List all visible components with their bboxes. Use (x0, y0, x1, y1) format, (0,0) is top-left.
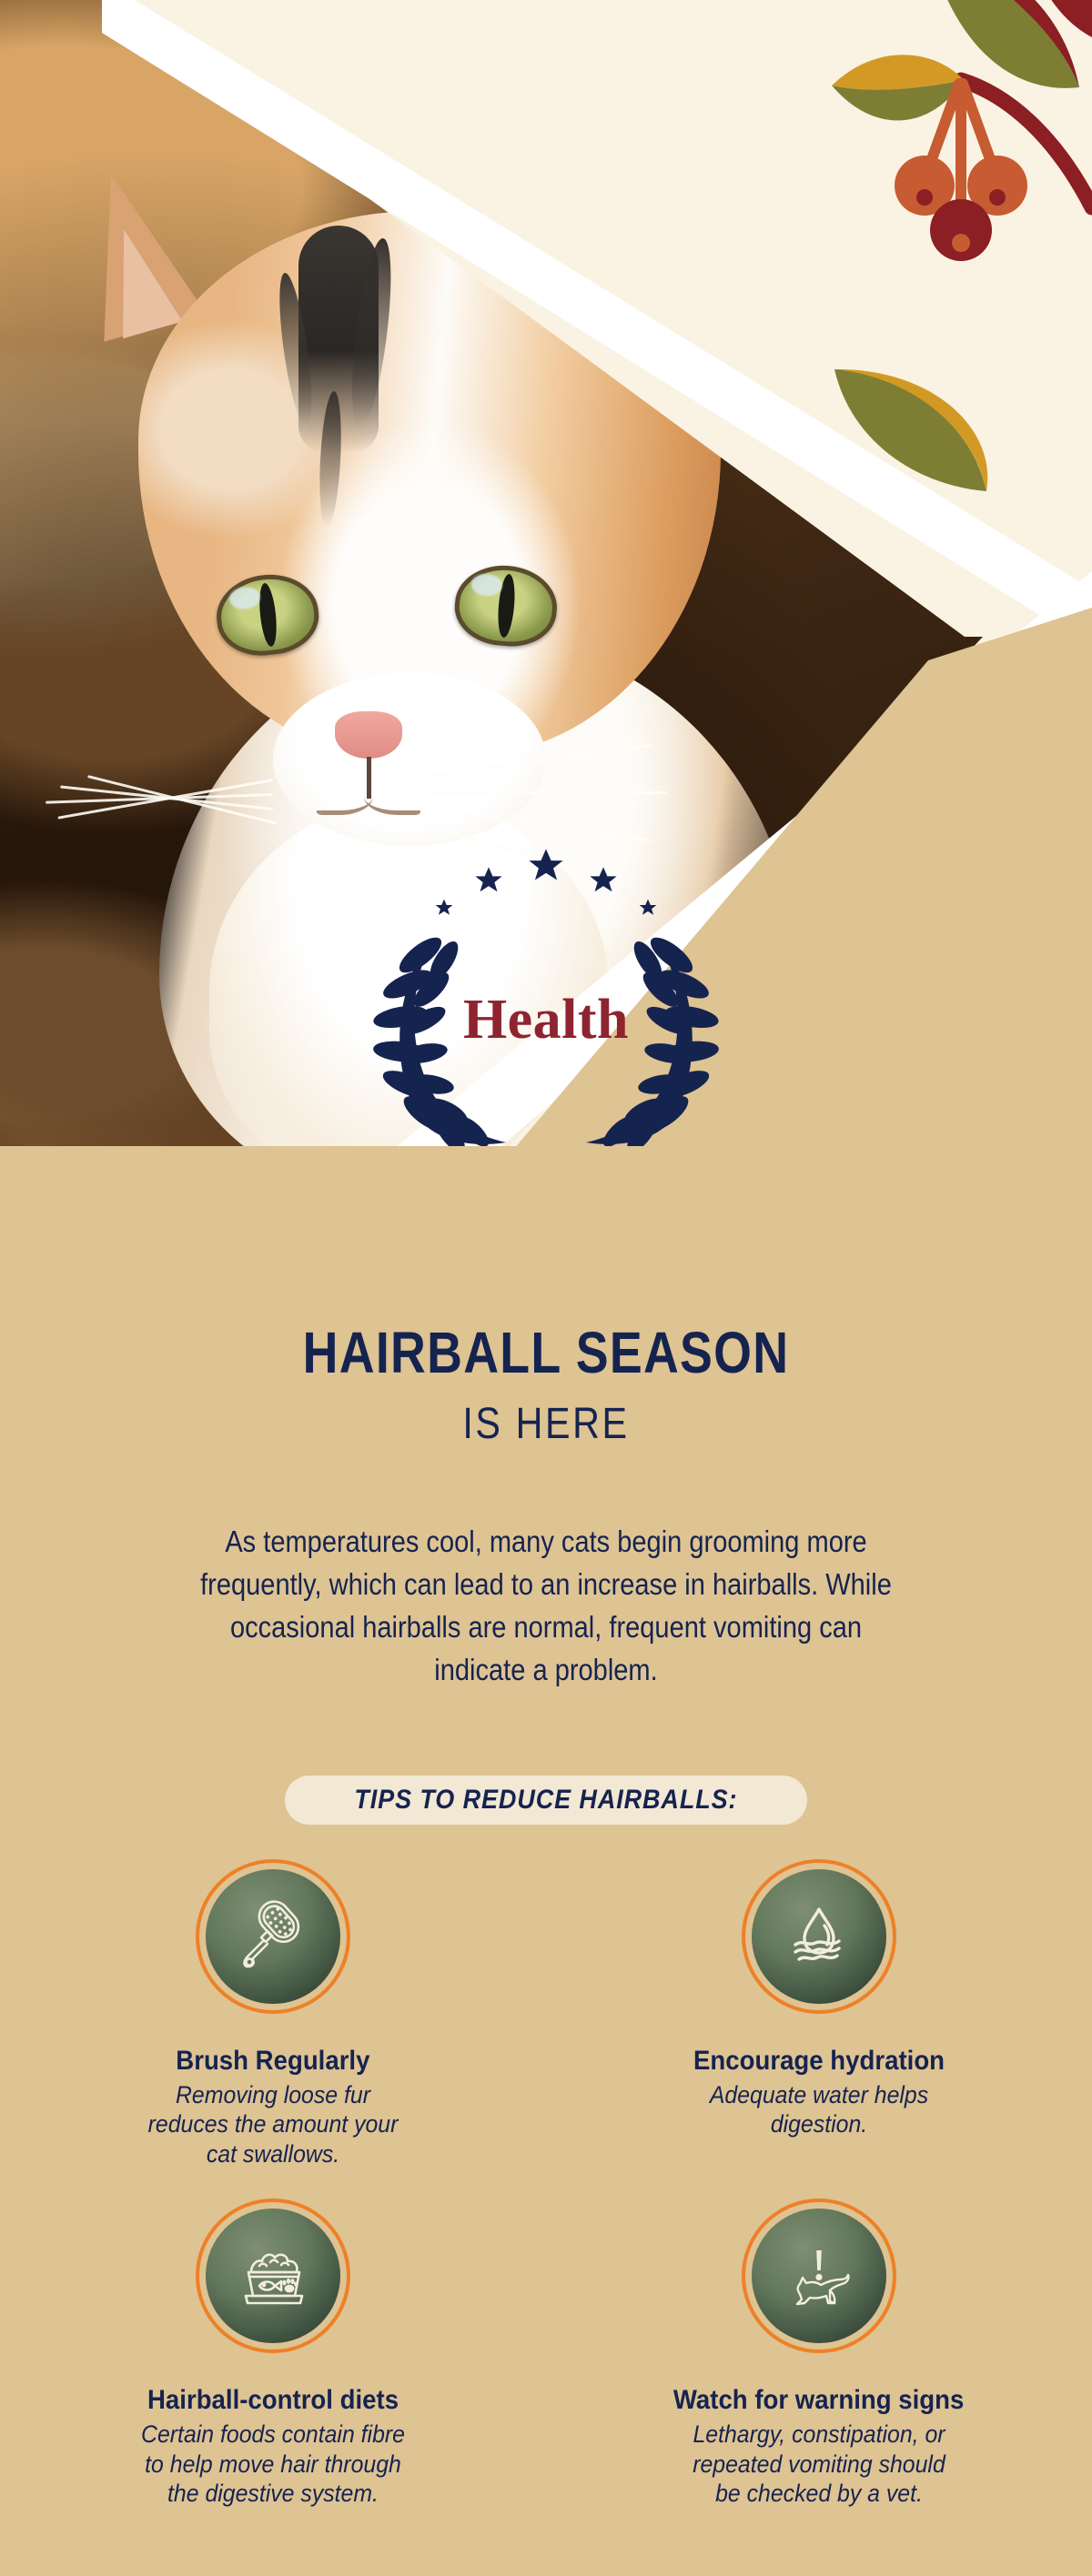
page-subtitle: IS HERE (76, 1399, 1016, 1449)
tip-icon-background (752, 1869, 886, 2004)
badge-label: Health (0, 988, 1092, 1052)
tip-card-encourage-hydration[interactable]: Encourage hydration Adequate water helps… (546, 1869, 1092, 2168)
intro-paragraph: As temperatures cool, many cats begin gr… (186, 1521, 906, 1691)
water-droplet-waves-icon (777, 1895, 861, 1978)
tip-description: Removing loose fur reduces the amount yo… (135, 2080, 411, 2168)
tip-card-hairball-control-diets[interactable]: Hairball-control diets Certain foods con… (0, 2209, 546, 2508)
tips-grid: Brush Regularly Removing loose fur reduc… (0, 1869, 1092, 2508)
tip-title: Brush Regularly (176, 2046, 369, 2077)
tip-card-watch-for-warning-signs[interactable]: Watch for warning signs Lethargy, consti… (546, 2209, 1092, 2508)
cat-food-bowl-icon (231, 2234, 315, 2318)
tip-icon-background (206, 2209, 340, 2343)
hair-brush-icon (231, 1895, 315, 1978)
tips-banner-label: TIPS TO REDUCE HAIRBALLS: (354, 1785, 737, 1816)
tip-title: Hairball-control diets (147, 2385, 399, 2416)
tip-title: Watch for warning signs (673, 2385, 964, 2416)
tip-icon-background (752, 2209, 886, 2343)
tip-title: Encourage hydration (693, 2046, 945, 2077)
tip-card-brush-regularly[interactable]: Brush Regularly Removing loose fur reduc… (0, 1869, 546, 2168)
tip-description: Adequate water helps digestion. (681, 2080, 957, 2139)
tip-description: Certain foods contain fibre to help move… (135, 2420, 411, 2508)
tip-description: Lethargy, constipation, or repeated vomi… (681, 2420, 957, 2508)
page-title: HAIRBALL SEASON (87, 1319, 1005, 1386)
cat-warning-icon (777, 2234, 861, 2318)
tips-banner: TIPS TO REDUCE HAIRBALLS: (285, 1776, 807, 1825)
tip-icon-background (206, 1869, 340, 2004)
